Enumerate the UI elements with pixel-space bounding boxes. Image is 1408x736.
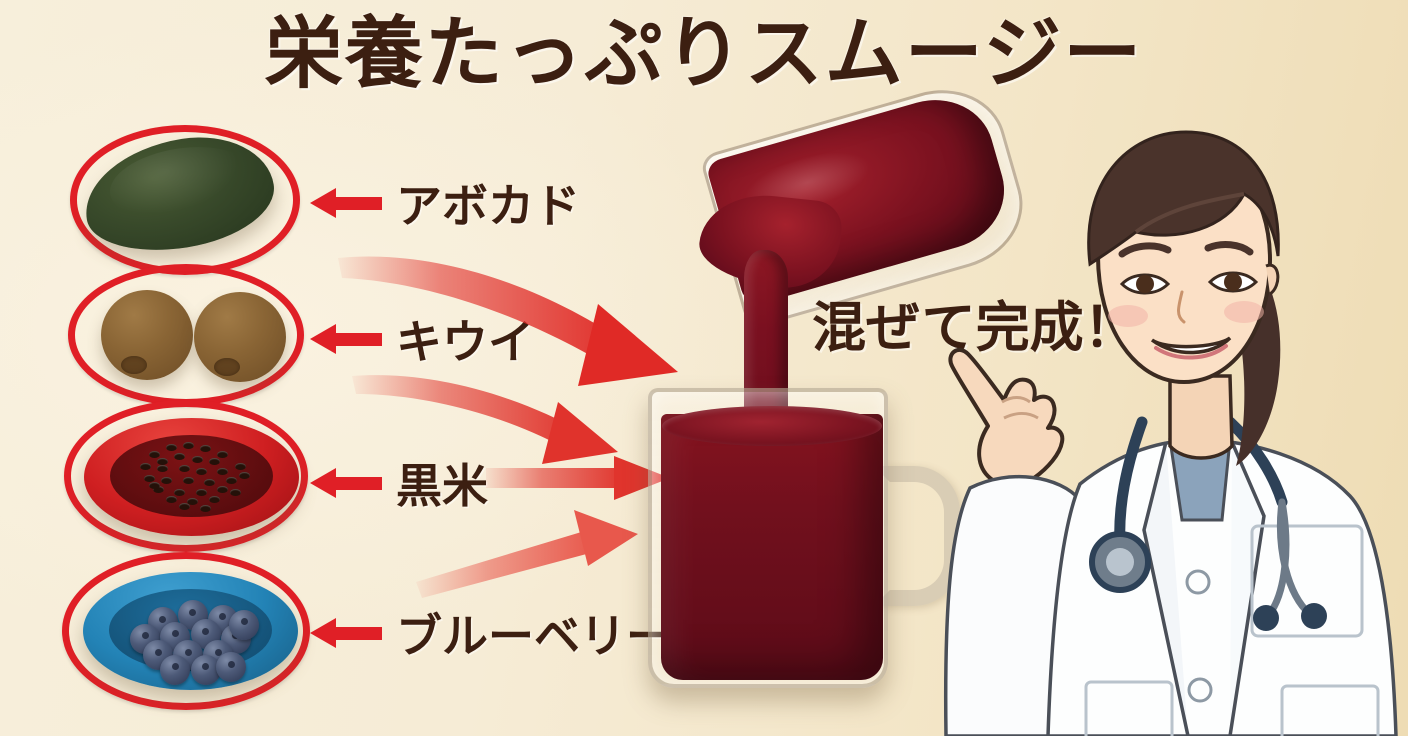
blue-bowl-image	[83, 572, 298, 690]
smoothie-surface	[662, 406, 882, 446]
left-arrow-icon-blueberry	[310, 618, 382, 648]
black-rice-grains	[84, 418, 299, 536]
pointing-hand-icon	[950, 350, 1062, 486]
ingredient-label-blueberry: ブルーベリー	[396, 600, 672, 666]
kiwi-image-right	[194, 292, 286, 382]
flow-arrow-blueberry-to-mug	[412, 508, 662, 598]
label-row-blueberry: ブルーベリー	[310, 600, 672, 666]
page-title: 栄養たっぷりスムージー	[0, 14, 1408, 92]
left-arrow-icon-avocado	[310, 188, 382, 218]
poster-canvas: 栄養たっぷりスムージー アボカド キウイ	[0, 0, 1408, 736]
red-bowl-image	[84, 418, 299, 536]
blueberry-fruits	[83, 572, 298, 690]
mug-body	[648, 388, 888, 688]
kiwi-image-left	[101, 290, 193, 380]
left-arrow-icon-black-rice	[310, 468, 382, 498]
glass-mug	[648, 388, 910, 700]
smoothie-liquid	[661, 414, 883, 680]
doctor-illustration	[930, 96, 1408, 736]
